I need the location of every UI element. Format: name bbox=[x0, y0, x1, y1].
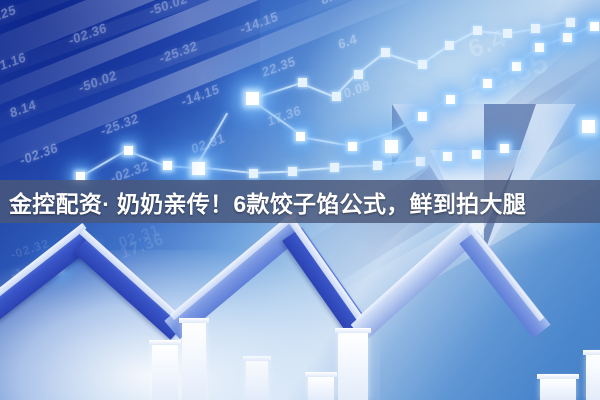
network-node bbox=[330, 163, 339, 172]
network-node bbox=[472, 150, 481, 159]
network-node bbox=[246, 92, 259, 105]
network-edge bbox=[195, 113, 227, 167]
network-node bbox=[590, 22, 599, 31]
network-node bbox=[418, 60, 427, 69]
network-node bbox=[332, 92, 341, 101]
network-edge bbox=[300, 136, 351, 147]
network-node bbox=[566, 18, 575, 27]
network-edge bbox=[80, 150, 126, 177]
network-node bbox=[124, 146, 133, 155]
network-edge bbox=[388, 116, 420, 134]
network-node bbox=[535, 43, 544, 52]
network-edge bbox=[376, 160, 418, 166]
network-node bbox=[443, 152, 452, 161]
bar-column bbox=[152, 344, 178, 400]
network-node bbox=[473, 26, 482, 35]
bar-column bbox=[246, 360, 268, 400]
network-node bbox=[296, 132, 305, 141]
caption-text: 金控配资· 奶奶亲传！6款饺子馅公式，鲜到拍大腿 bbox=[0, 185, 526, 219]
network-edge bbox=[258, 82, 300, 97]
network-node bbox=[354, 70, 363, 79]
bar-column bbox=[540, 378, 576, 400]
network-node bbox=[500, 144, 509, 153]
network-node bbox=[373, 161, 382, 170]
network-node bbox=[563, 33, 572, 42]
bar-column bbox=[308, 376, 334, 400]
network-node bbox=[288, 167, 297, 176]
bar-column bbox=[586, 354, 600, 400]
bar-column bbox=[338, 332, 368, 400]
bar-column bbox=[182, 322, 206, 400]
network-node bbox=[163, 161, 172, 170]
network-node bbox=[416, 157, 425, 166]
network-edge bbox=[128, 150, 166, 166]
network-node bbox=[531, 24, 540, 33]
network-node bbox=[348, 142, 357, 151]
network-node bbox=[445, 41, 454, 50]
network-node bbox=[249, 169, 258, 178]
network-node bbox=[512, 62, 521, 71]
network-node bbox=[298, 78, 307, 87]
network-node bbox=[192, 162, 205, 175]
banner-image: -50.02 -02.36 -11.25 -02.36 +15.02 21.02… bbox=[0, 0, 600, 400]
network-node bbox=[503, 29, 512, 38]
caption-banner: 金控配资· 奶奶亲传！6款饺子馅公式，鲜到拍大腿 bbox=[0, 180, 600, 223]
network-node bbox=[385, 140, 398, 153]
network-node bbox=[446, 95, 455, 104]
network-node bbox=[418, 112, 427, 121]
network-node bbox=[381, 48, 390, 57]
network-node bbox=[582, 120, 595, 133]
network-node bbox=[483, 79, 492, 88]
